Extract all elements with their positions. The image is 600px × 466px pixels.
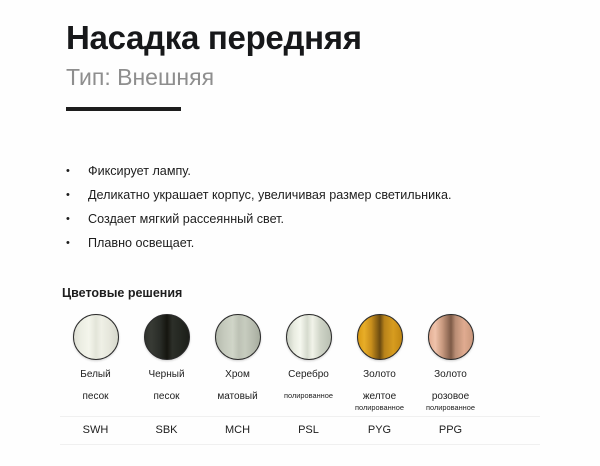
list-item-label: Создает мягкий рассеянный свет.	[88, 208, 284, 230]
color-swatch-circle[interactable]	[428, 314, 474, 360]
bullet-icon: •	[66, 184, 88, 206]
list-item-label: Фиксирует лампу.	[88, 160, 191, 182]
color-code-swh: SWH	[60, 417, 131, 444]
bullet-icon: •	[66, 208, 88, 230]
color-code-sbk: SBK	[131, 417, 202, 444]
color-name: Золото	[363, 369, 396, 382]
slide-page: Насадка передняя Тип: Внешняя • Фиксируе…	[0, 0, 600, 466]
color-code-psl: PSL	[273, 417, 344, 444]
color-codes-row: SWH SBK MCH PSL PYG PPG	[60, 416, 540, 445]
page-title: Насадка передняя	[66, 18, 546, 58]
color-option-pyg[interactable]: Золото желтое полированное	[344, 314, 415, 413]
swatch-row: Белый песок Черный песок Хром матовый Се…	[60, 314, 540, 413]
color-swatch-circle[interactable]	[357, 314, 403, 360]
color-swatch-circle[interactable]	[286, 314, 332, 360]
color-code-pyg: PYG	[344, 417, 415, 444]
list-item: • Деликатно украшает корпус, увеличивая …	[66, 184, 566, 208]
color-options-section: Цветовые решения Белый песок Черный песо…	[60, 286, 540, 413]
header: Насадка передняя Тип: Внешняя	[66, 18, 546, 111]
color-name-line2: песок	[82, 391, 108, 404]
color-swatch-circle[interactable]	[215, 314, 261, 360]
list-item: • Плавно освещает.	[66, 232, 566, 256]
color-code-ppg: PPG	[415, 417, 486, 444]
color-name-line2: розовое	[432, 391, 469, 404]
color-name: Черный	[148, 369, 184, 382]
color-code-mch: MCH	[202, 417, 273, 444]
color-option-swh[interactable]: Белый песок	[60, 314, 131, 413]
feature-list: • Фиксирует лампу. • Деликатно украшает …	[66, 160, 566, 256]
list-item: • Фиксирует лампу.	[66, 160, 566, 184]
page-subtitle: Тип: Внешняя	[66, 62, 546, 92]
list-item: • Создает мягкий рассеянный свет.	[66, 208, 566, 232]
color-option-ppg[interactable]: Золото розовое полированное	[415, 314, 486, 413]
color-name-line2: песок	[153, 391, 179, 404]
color-finish: полированное	[284, 391, 333, 401]
color-option-mch[interactable]: Хром матовый	[202, 314, 273, 413]
list-item-label: Деликатно украшает корпус, увеличивая ра…	[88, 184, 451, 206]
color-option-sbk[interactable]: Черный песок	[131, 314, 202, 413]
color-name-line2: желтое	[363, 391, 396, 404]
color-option-psl[interactable]: Серебро полированное	[273, 314, 344, 413]
section-title: Цветовые решения	[62, 286, 540, 300]
color-name: Белый	[80, 369, 110, 382]
color-finish: полированное	[355, 403, 404, 413]
bullet-icon: •	[66, 160, 88, 182]
title-divider	[66, 107, 181, 111]
color-swatch-circle[interactable]	[73, 314, 119, 360]
color-name-line2: матовый	[217, 391, 257, 404]
color-finish: полированное	[426, 403, 475, 413]
list-item-label: Плавно освещает.	[88, 232, 194, 254]
color-name: Серебро	[288, 369, 329, 382]
color-name: Хром	[225, 369, 250, 382]
bullet-icon: •	[66, 232, 88, 254]
color-name: Золото	[434, 369, 467, 382]
color-swatch-circle[interactable]	[144, 314, 190, 360]
